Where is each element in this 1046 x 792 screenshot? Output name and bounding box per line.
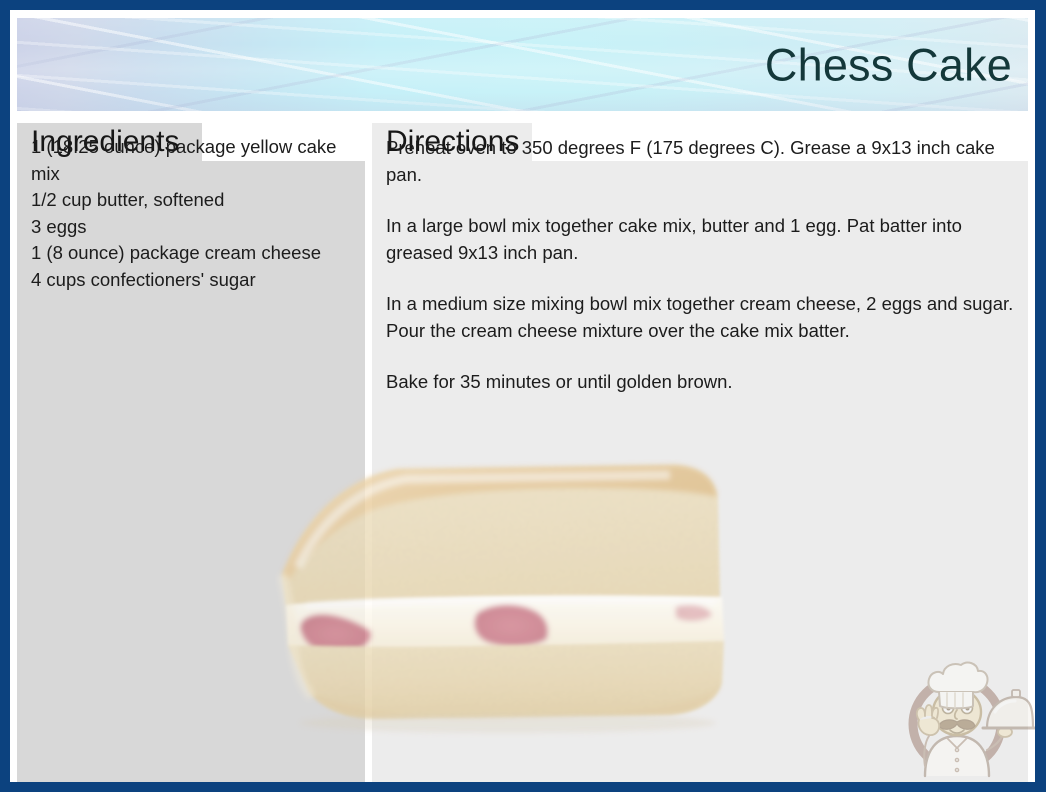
ingredient-item: 1 (18.25 ounce) package yellow cake mix <box>31 134 347 187</box>
ingredients-list: 1 (18.25 ounce) package yellow cake mix … <box>17 111 365 293</box>
direction-step: Preheat oven to 350 degrees F (175 degre… <box>386 135 1018 188</box>
recipe-card: Chess Cake Ingredients 1 (18.25 ounce) p… <box>0 0 1046 792</box>
direction-step: In a medium size mixing bowl mix togethe… <box>386 291 1018 344</box>
content-panels: Ingredients 1 (18.25 ounce) package yell… <box>10 111 1035 782</box>
header-banner: Chess Cake <box>17 18 1028 111</box>
ingredients-panel: Ingredients 1 (18.25 ounce) package yell… <box>17 111 365 782</box>
direction-step: Bake for 35 minutes or until golden brow… <box>386 369 1018 396</box>
ingredient-item: 3 eggs <box>31 214 347 241</box>
ingredient-item: 4 cups confectioners' sugar <box>31 267 347 294</box>
page-title: Chess Cake <box>765 41 1012 88</box>
ingredient-item: 1 (8 ounce) package cream cheese <box>31 240 347 267</box>
directions-steps: Preheat oven to 350 degrees F (175 degre… <box>372 111 1028 396</box>
card-inner: Chess Cake Ingredients 1 (18.25 ounce) p… <box>10 10 1035 782</box>
chef-mascot-logo <box>895 650 1035 782</box>
ingredient-item: 1/2 cup butter, softened <box>31 187 347 214</box>
direction-step: In a large bowl mix together cake mix, b… <box>386 213 1018 266</box>
